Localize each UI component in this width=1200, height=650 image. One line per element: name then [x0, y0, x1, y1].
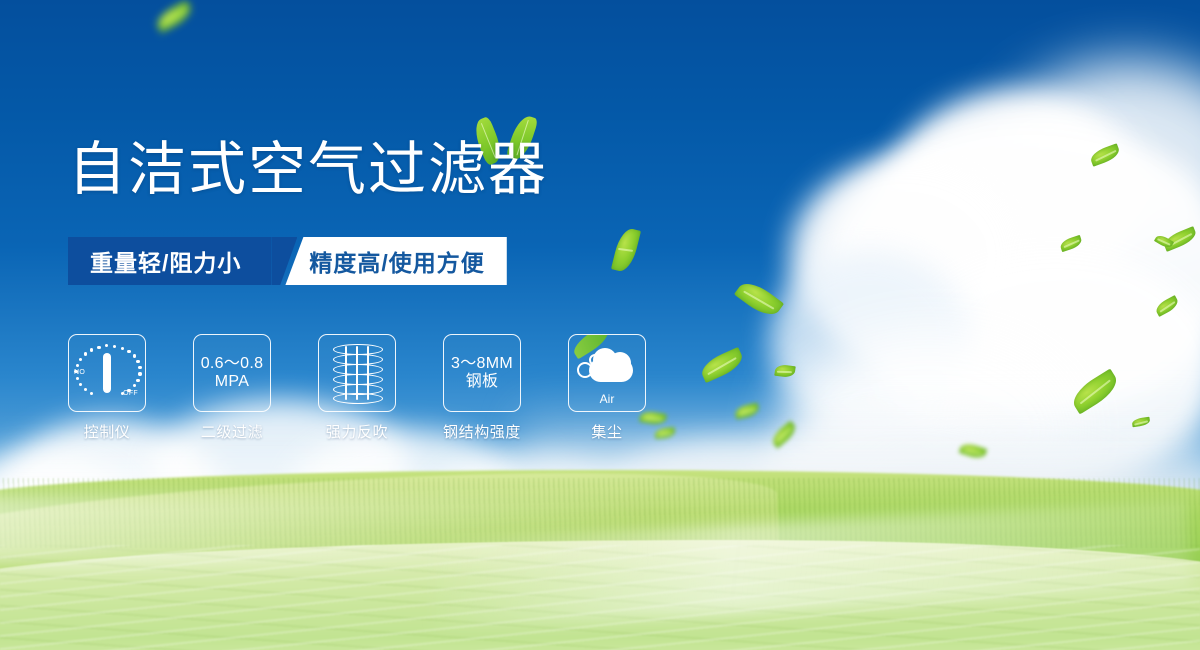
feature-item-controller[interactable]: NO OFF 控制仪 — [68, 334, 146, 442]
feature-list: NO OFF 控制仪 0.6～0.8 MPA 二级过滤 — [68, 334, 646, 442]
page-title: 自洁式空气过滤器 — [68, 141, 548, 199]
feature-label: 强力反吹 — [326, 421, 388, 442]
feature-item-steel[interactable]: 3～8MM 钢板 钢结构强度 — [443, 334, 521, 442]
pressure-icon: 0.6～0.8 MPA — [193, 334, 271, 412]
gauge-dial: NO OFF — [74, 340, 140, 406]
gauge-label-on: NO — [74, 369, 85, 376]
feature-item-blowback[interactable]: 强力反吹 — [318, 334, 396, 442]
feature-item-pressure[interactable]: 0.6～0.8 MPA 二级过滤 — [193, 334, 271, 442]
steel-thickness: 3～8MM — [451, 355, 513, 372]
steel-icon: 3～8MM 钢板 — [443, 334, 521, 412]
steel-icon-text: 3～8MM 钢板 — [451, 355, 513, 391]
coil-icon — [318, 334, 396, 412]
subtitle-left: 重量轻/阻力小 — [68, 237, 271, 285]
grass-highlight — [0, 495, 660, 565]
feature-item-dust[interactable]: Air 集尘 — [568, 334, 646, 442]
gauge-needle — [103, 353, 112, 393]
feature-label: 二级过滤 — [201, 421, 263, 442]
steel-material: 钢板 — [451, 373, 513, 391]
pressure-value: 0.6～0.8 — [201, 355, 264, 372]
gauge-icon: NO OFF — [68, 334, 146, 412]
air-label: Air — [575, 392, 639, 406]
subtitle-bar: 重量轻/阻力小 精度高/使用方便 — [68, 237, 507, 285]
pressure-icon-text: 0.6～0.8 MPA — [201, 355, 264, 391]
cloud-shape: Air — [575, 342, 639, 404]
feature-label: 控制仪 — [84, 421, 131, 442]
hero-banner: 自洁式空气过滤器 重量轻/阻力小 精度高/使用方便 — [0, 0, 1200, 650]
pressure-unit: MPA — [201, 373, 264, 391]
gauge-label-off: OFF — [123, 390, 138, 397]
subtitle-right: 精度高/使用方便 — [285, 237, 506, 285]
air-cloud-icon: Air — [568, 334, 646, 412]
feature-label: 集尘 — [591, 421, 622, 442]
coil-shape — [329, 344, 385, 402]
feature-label: 钢结构强度 — [443, 421, 521, 442]
